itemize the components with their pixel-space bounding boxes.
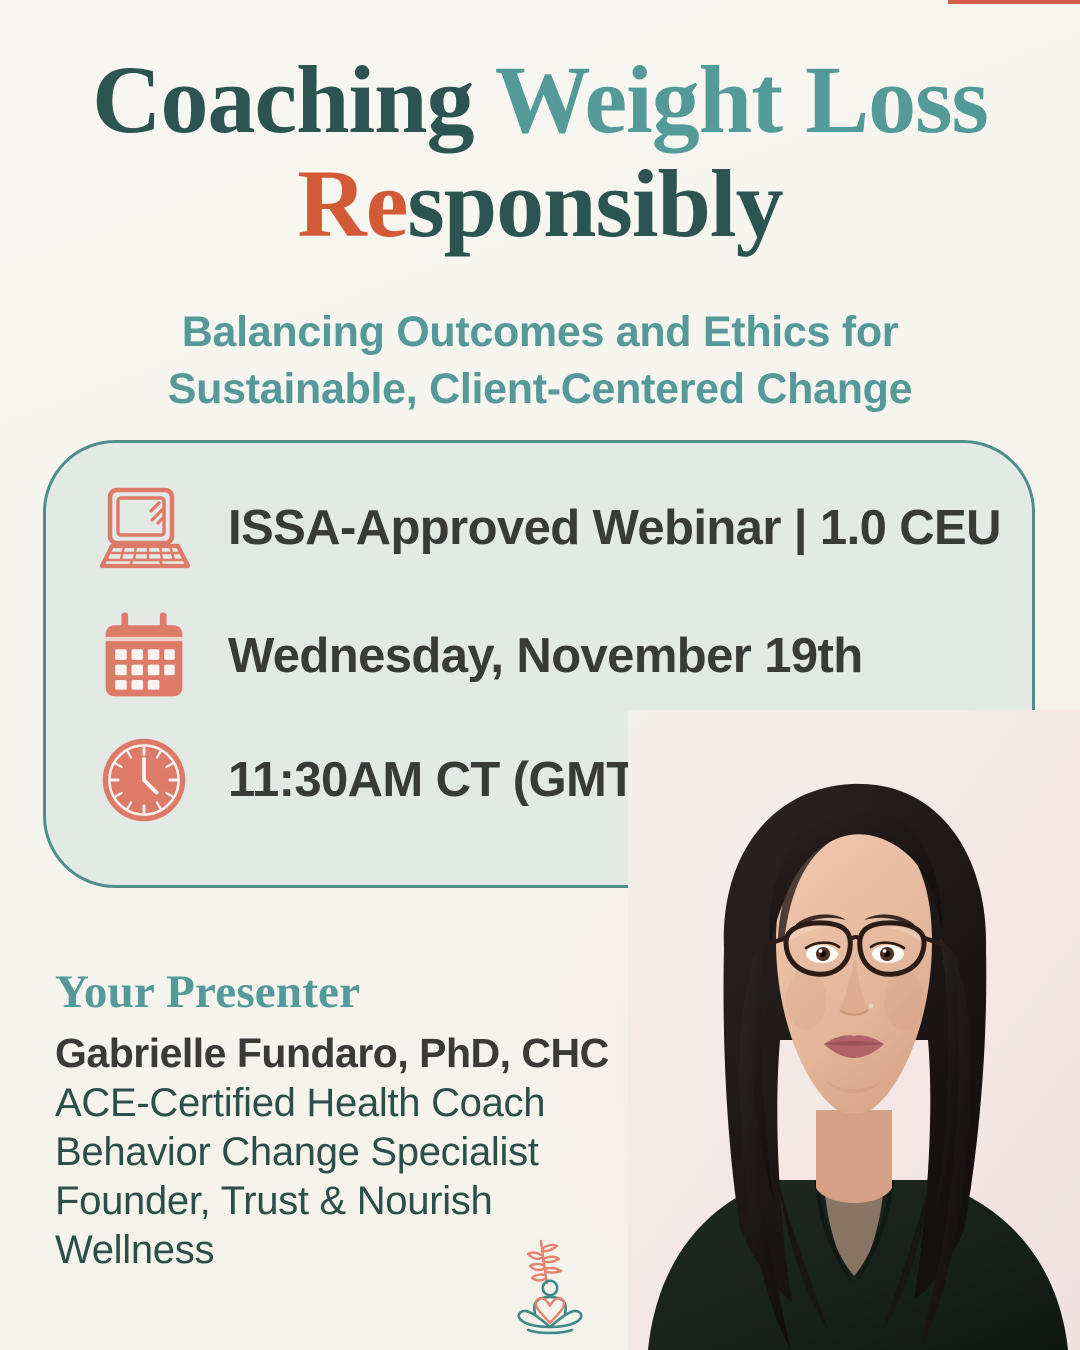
presenter-credential-2: Behavior Change Specialist [55,1128,675,1177]
presenter-credential-1: ACE-Certified Health Coach [55,1079,675,1128]
presenter-credential-3: Founder, Trust & Nourish [55,1177,675,1226]
presenter-photo [628,710,1080,1350]
detail-text-time: 11:30AM CT (GMT-5) [228,752,691,808]
headline-part-sponsibly: sponsibly [407,150,782,257]
calendar-icon [94,606,194,706]
poster-canvas: Coaching Weight Loss Responsibly Balanci… [0,0,1080,1350]
detail-row-date: Wednesday, November 19th [94,601,863,711]
headline-part-weight-loss: Weight Loss [495,46,988,153]
clock-icon [94,730,194,830]
detail-row-webinar: ISSA-Approved Webinar | 1.0 CEU [94,473,1001,583]
subtitle-line-1: Balancing Outcomes and Ethics for [182,308,898,356]
presenter-name: Gabrielle Fundaro, PhD, CHC [55,1029,675,1077]
detail-text-date: Wednesday, November 19th [228,628,863,684]
brand-logo-icon [495,1235,605,1347]
page-subtitle: Balancing Outcomes and Ethics for Sustai… [90,304,990,418]
top-accent-rule [948,0,1080,4]
headline-accent-re: Re [297,150,407,257]
presenter-section: Your Presenter Gabrielle Fundaro, PhD, C… [55,965,675,1275]
laptop-icon [94,478,194,578]
page-title: Coaching Weight Loss Responsibly [0,48,1080,255]
presenter-heading: Your Presenter [55,965,675,1019]
headline-part-coaching: Coaching [92,46,495,153]
subtitle-line-2: Sustainable, Client-Centered Change [168,365,913,413]
detail-text-webinar: ISSA-Approved Webinar | 1.0 CEU [228,500,1001,556]
detail-row-time: 11:30AM CT (GMT-5) [94,725,691,835]
